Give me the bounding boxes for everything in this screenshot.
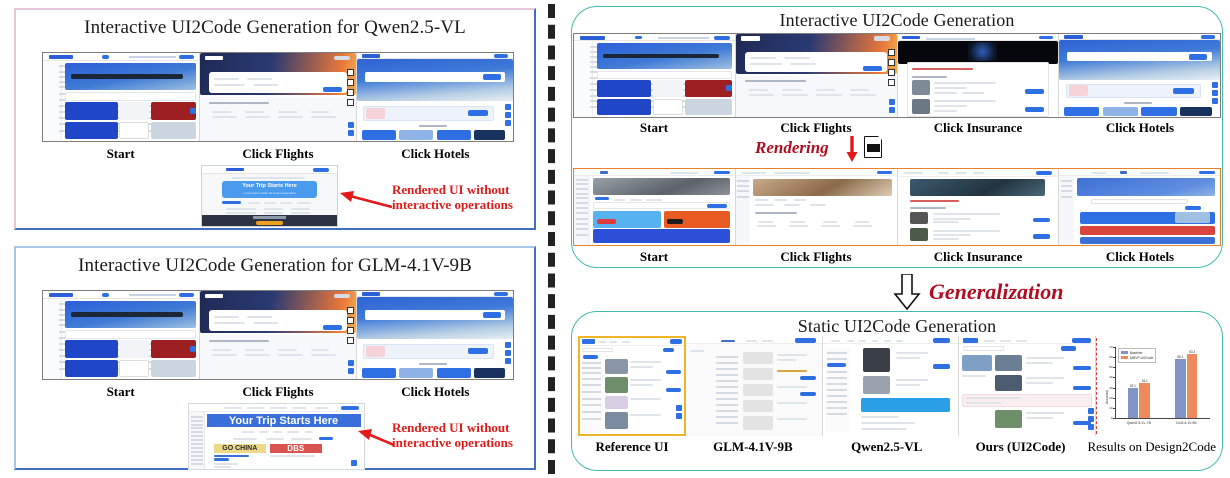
results-chart-cell: 01020304050607029.134.1Qwen2.5-VL-7B58.1… (1096, 336, 1216, 436)
screenshot-click-flights[interactable] (200, 53, 357, 141)
rendered-hero: Your Trip Starts Here Lorem ipsum dolor … (222, 181, 317, 198)
glm-rendered-hero: Your Trip Starts Here (207, 414, 361, 428)
caption-start: Start (573, 249, 735, 265)
chart-y-tick (1113, 347, 1115, 348)
caption-flights: Click Flights (735, 120, 897, 136)
square-marker-stack (347, 69, 354, 106)
caption-flights: Click Flights (199, 384, 356, 400)
screenshot-qwen-output[interactable] (823, 336, 960, 436)
rendered-filmstrip (573, 168, 1221, 246)
chart-y-tick-label: 30 (1102, 386, 1113, 390)
interactive-filmstrip (573, 33, 1221, 118)
annotation-line-1: Rendered UI without (392, 420, 513, 435)
chart-separator (1096, 338, 1097, 434)
chart-x-axis (1115, 418, 1210, 419)
caption-start: Start (42, 384, 199, 400)
rendering-label: Rendering (755, 138, 829, 158)
chart-bar (1128, 388, 1138, 418)
interactive-step-captions: Start Click Flights Click Insurance Clic… (573, 120, 1221, 136)
screenshot-click-hotels[interactable] (357, 291, 513, 379)
panel-qwen-interactive: Interactive UI2Code Generation for Qwen2… (14, 8, 536, 230)
square-marker-stack (888, 49, 895, 86)
chart-legend-item: MMVP-UI2Code (1121, 356, 1153, 360)
chart-y-axis-label: Accuracy (1105, 390, 1109, 404)
annotation-line-2: interactive operations (392, 197, 513, 212)
caption-ours: Ours (UI2Code) (954, 439, 1088, 455)
chart-y-tick-label: 0 (1102, 416, 1113, 420)
qwen-blue-banner (861, 398, 951, 412)
tile-dbs[interactable]: DBS (270, 444, 323, 453)
rendered-footer-button[interactable] (256, 221, 283, 225)
chart-y-axis (1115, 347, 1116, 418)
static-group-title: Static UI2Code Generation (571, 316, 1223, 337)
chart-y-tick-label: 70 (1102, 345, 1113, 349)
screenshot-ours-ui2code-output[interactable] (959, 336, 1096, 436)
caption-flights: Click Flights (735, 249, 897, 265)
down-arrow-icon (845, 136, 859, 162)
static-column-captions: Reference UI GLM-4.1V-9B Qwen2.5-VL Ours… (578, 439, 1216, 455)
screenshot-start[interactable] (43, 53, 200, 141)
rendered-hero-sub: Lorem ipsum dolor sit amet consectetur (243, 191, 296, 195)
design2code-bar-chart: 01020304050607029.134.1Qwen2.5-VL-7B58.1… (1102, 338, 1214, 434)
caption-reference-ui: Reference UI (578, 439, 686, 455)
qwen-rendered-output[interactable]: Your Trip Starts Here Lorem ipsum dolor … (201, 165, 338, 227)
glm-step-captions: Start Click Flights Click Hotels (42, 384, 514, 400)
screenshot-start[interactable] (574, 34, 736, 117)
glm-step-filmstrip (42, 290, 514, 380)
tile-go-china-label: GO CHINA (222, 445, 257, 452)
caption-hotels: Click Hotels (1059, 120, 1221, 136)
html-file-icon (864, 136, 882, 158)
screenshot-reference-ui[interactable] (578, 336, 686, 436)
screenshot-click-hotels[interactable] (1059, 34, 1220, 117)
annotation-line-2: interactive operations (392, 435, 513, 450)
interactive-group-title: Interactive UI2Code Generation (571, 10, 1223, 31)
chart-y-tick (1113, 418, 1115, 419)
rendered-start[interactable] (574, 169, 736, 245)
static-comparison-strip: 01020304050607029.134.1Qwen2.5-VL-7B58.1… (578, 336, 1216, 436)
panel-qwen-title: Interactive UI2Code Generation for Qwen2… (16, 17, 534, 39)
chart-y-tick-label: 40 (1102, 375, 1113, 379)
chart-x-tick-label: Qwen2.5-VL-7B (1115, 421, 1163, 425)
chart-y-tick (1113, 367, 1115, 368)
chart-x-tick-label: GLM-4.1V-9B (1163, 421, 1211, 425)
qwen-annotation-text: Rendered UI without interactive operatio… (392, 182, 513, 213)
chart-bar (1187, 354, 1197, 418)
red-arrow-icon (338, 187, 394, 209)
qwen-step-filmstrip (42, 52, 514, 142)
chart-bar-value-label: 63.3 (1184, 350, 1200, 354)
glm-annotation-text: Rendered UI without interactive operatio… (392, 420, 513, 451)
screenshot-click-flights[interactable] (736, 34, 898, 117)
square-marker-stack (347, 307, 354, 344)
chart-bar-value-label: 34.1 (1136, 379, 1152, 383)
chart-legend-swatch (1121, 356, 1128, 359)
caption-hotels: Click Hotels (357, 384, 514, 400)
caption-start: Start (42, 146, 199, 162)
caption-flights: Click Flights (199, 146, 356, 162)
screenshot-click-flights[interactable] (200, 291, 357, 379)
caption-qwen: Qwen2.5-VL (820, 439, 954, 455)
chart-bar (1175, 359, 1185, 418)
panel-glm-interactive: Interactive UI2Code Generation for GLM-4… (14, 246, 536, 470)
caption-glm: GLM-4.1V-9B (686, 439, 820, 455)
screenshot-click-hotels[interactable] (357, 53, 513, 141)
glm-hero-title: Your Trip Starts Here (229, 415, 338, 427)
vertical-dashed-divider (548, 4, 555, 474)
caption-chart: Results on Design2Code (1087, 439, 1216, 455)
tile-go-china[interactable]: GO CHINA (214, 444, 267, 453)
chart-y-tick (1113, 357, 1115, 358)
rendered-click-hotels[interactable] (1059, 169, 1220, 245)
chart-legend-label: MMVP-UI2Code (1130, 356, 1153, 360)
generalization-arrow-icon (893, 274, 921, 310)
annotation-line-1: Rendered UI without (392, 182, 513, 197)
rendered-hero-title: Your Trip Starts Here (242, 183, 297, 189)
chart-y-tick-label: 50 (1102, 365, 1113, 369)
qwen-step-captions: Start Click Flights Click Hotels (42, 146, 514, 162)
chart-legend-swatch (1121, 351, 1128, 354)
generalization-label: Generalization (929, 279, 1063, 305)
rendered-step-captions: Start Click Flights Click Insurance Clic… (573, 249, 1221, 265)
chart-y-tick (1113, 408, 1115, 409)
caption-insurance: Click Insurance (897, 249, 1059, 265)
chart-bar (1139, 383, 1149, 418)
glm-rendered-output[interactable]: Your Trip Starts Here GO CHINA DBS (188, 403, 365, 470)
caption-start: Start (573, 120, 735, 136)
screenshot-click-insurance[interactable] (898, 34, 1060, 117)
chart-legend: BaselineMMVP-UI2Code (1118, 348, 1156, 363)
tile-dbs-label: DBS (287, 444, 304, 453)
figure-root: Interactive UI2Code Generation for Qwen2… (0, 0, 1230, 478)
screenshot-glm-output[interactable] (686, 336, 823, 436)
chart-y-tick (1113, 398, 1115, 399)
chart-y-tick-label: 10 (1102, 406, 1113, 410)
red-arrow-icon (356, 425, 396, 447)
chart-legend-item: Baseline (1121, 351, 1153, 355)
caption-hotels: Click Hotels (357, 146, 514, 162)
chart-y-tick (1113, 388, 1115, 389)
caption-hotels: Click Hotels (1059, 249, 1221, 265)
caption-insurance: Click Insurance (897, 120, 1059, 136)
chart-legend-label: Baseline (1130, 351, 1142, 355)
chart-y-tick-label: 60 (1102, 355, 1113, 359)
rendered-click-flights[interactable] (736, 169, 898, 245)
panel-glm-title: Interactive UI2Code Generation for GLM-4… (16, 255, 534, 277)
screenshot-start[interactable] (43, 291, 200, 379)
rendered-click-insurance[interactable] (898, 169, 1060, 245)
chart-y-tick (1113, 377, 1115, 378)
